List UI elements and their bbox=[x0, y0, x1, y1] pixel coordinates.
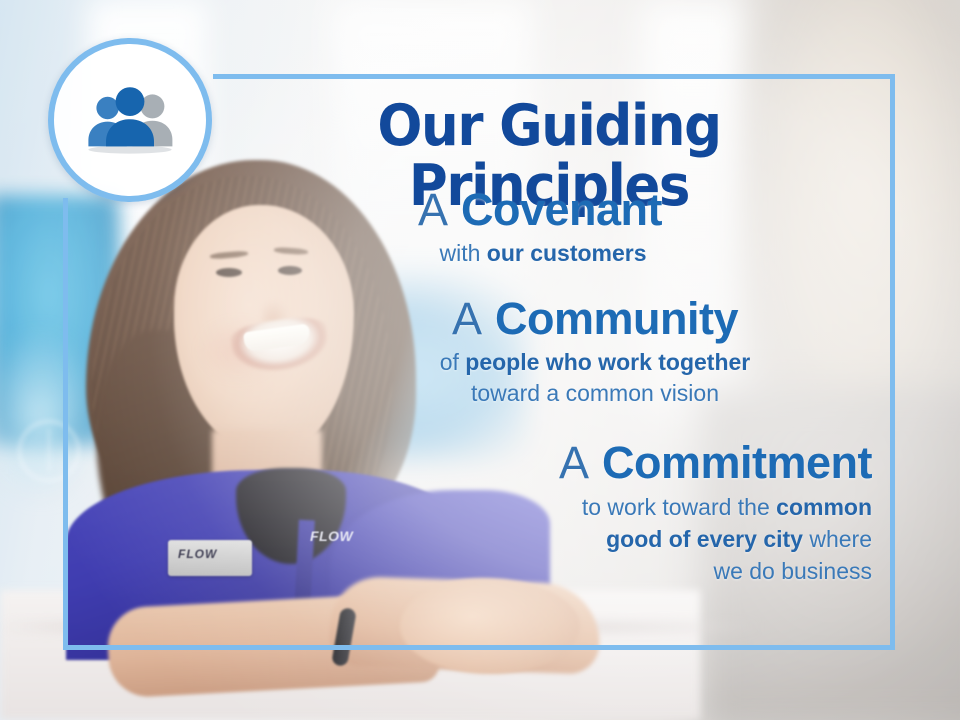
community-sub-plain-2: toward a common vision bbox=[471, 380, 719, 406]
associate-eye-left bbox=[216, 268, 242, 277]
principle-covenant: A Covenant with our customers bbox=[240, 182, 890, 269]
commitment-sub-plain-3: we do business bbox=[713, 558, 872, 584]
people-badge bbox=[48, 38, 212, 202]
frame-border-right bbox=[890, 74, 895, 650]
commitment-sub-bold-2: good of every city bbox=[606, 526, 803, 552]
commitment-sub-plain-2: where bbox=[803, 526, 872, 552]
principle-commitment: A Commitment to work toward the common g… bbox=[240, 435, 890, 587]
frame-border-left bbox=[63, 198, 68, 650]
principle-commitment-keyword: Commitment bbox=[602, 437, 872, 488]
principle-covenant-article: A bbox=[418, 184, 449, 235]
principle-commitment-article: A bbox=[559, 437, 590, 488]
people-group-icon bbox=[82, 85, 178, 155]
principle-covenant-subtext: with our customers bbox=[240, 238, 850, 269]
banner-graphic: FLOW FLOW Our Guiding Principles bbox=[0, 0, 960, 720]
frame-border-bottom bbox=[63, 645, 895, 650]
covenant-sub-plain-1: with bbox=[439, 240, 486, 266]
principle-community-keyword: Community bbox=[495, 293, 738, 344]
commitment-sub-plain-1: to work toward the bbox=[582, 494, 776, 520]
community-sub-bold-1: people who work together bbox=[465, 349, 750, 375]
principle-commitment-heading: A Commitment bbox=[240, 435, 872, 491]
community-sub-plain-1: of bbox=[440, 349, 466, 375]
blurred-wall-logo bbox=[18, 420, 80, 482]
commitment-sub-bold-1: common bbox=[776, 494, 872, 520]
principle-community: A Community of people who work together … bbox=[240, 291, 890, 409]
associate-clasped-hands bbox=[400, 578, 580, 674]
principle-community-subtext: of people who work together toward a com… bbox=[300, 347, 890, 409]
covenant-sub-bold-1: our customers bbox=[487, 240, 647, 266]
principle-covenant-keyword: Covenant bbox=[461, 184, 662, 235]
frame-border-top bbox=[213, 74, 895, 79]
principle-commitment-subtext: to work toward the common good of every … bbox=[240, 491, 872, 587]
principle-community-article: A bbox=[452, 293, 483, 344]
name-tag-brand-text: FLOW bbox=[178, 548, 242, 560]
principles-list: A Covenant with our customers A Communit… bbox=[240, 182, 890, 591]
principle-community-heading: A Community bbox=[300, 291, 890, 347]
principle-covenant-heading: A Covenant bbox=[240, 182, 850, 238]
